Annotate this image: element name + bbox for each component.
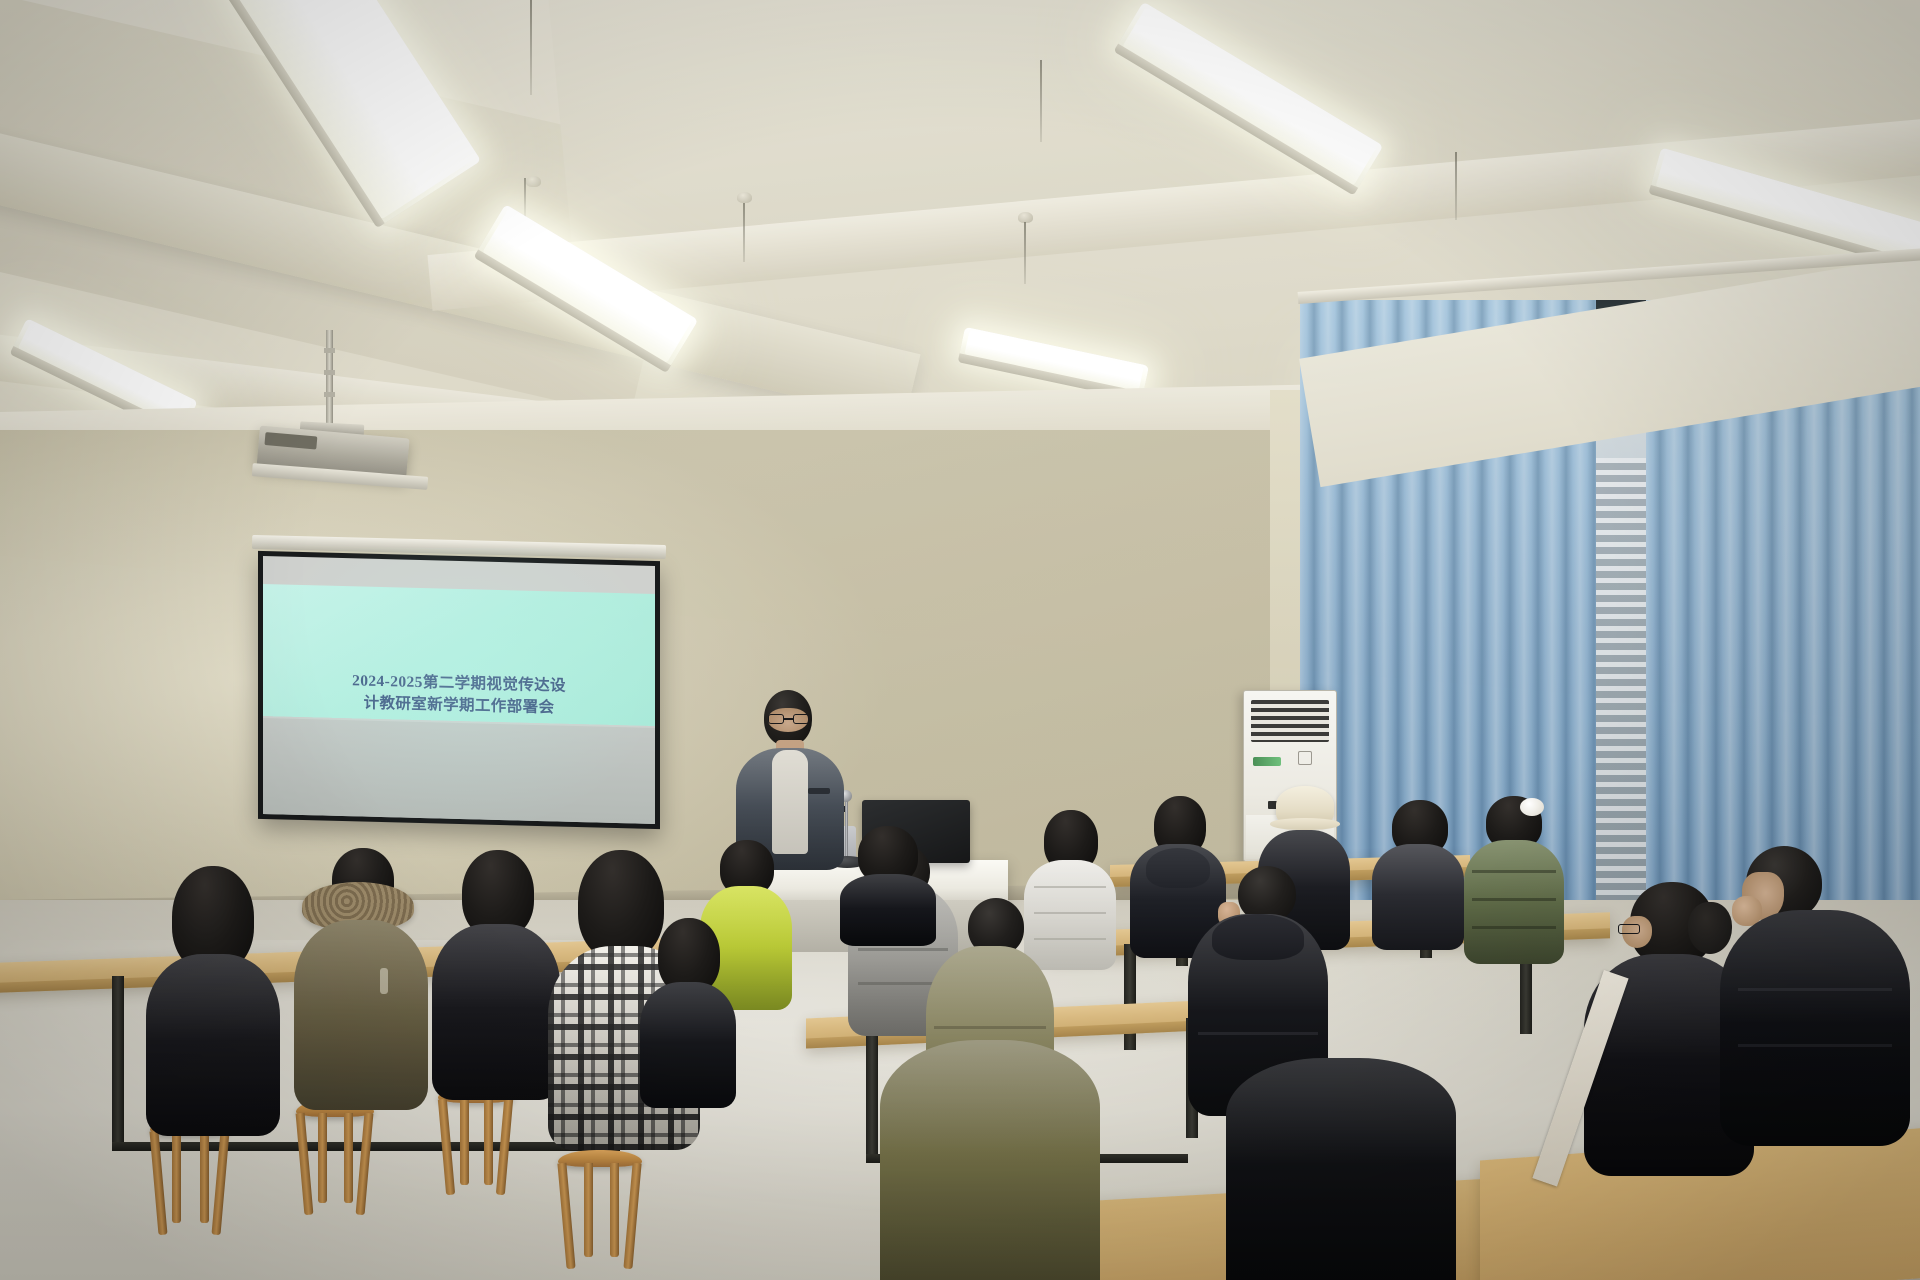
hair-scrunchie [1520,798,1544,816]
table-leg [112,976,124,1148]
student-far-left-back [640,918,736,1108]
wooden-stool[interactable] [438,1086,514,1198]
classroom-photo-scene: 2024-2025第二学期视觉传达设 计教研室新学期工作部署会 [0,0,1920,1280]
student-foreground-silhouette-2 [1226,1058,1456,1280]
light-wire [1024,222,1026,284]
light-wire [1040,60,1042,142]
student-olive-green-puffer [1462,796,1566,964]
light-wire [743,200,745,262]
glasses-icon [1618,924,1640,934]
student-olive-fur-hood-parka [292,848,430,1110]
light-wire [530,0,532,95]
parka-toggle [380,968,388,994]
wooden-stool[interactable] [558,1150,642,1272]
jacket-hood [1212,914,1304,960]
student-dark-jacket-row3 [1372,800,1464,950]
wooden-stool[interactable] [150,1118,230,1238]
presenter-sweater [772,750,808,854]
wooden-stool[interactable] [296,1100,374,1218]
projection-screen: 2024-2025第二学期视觉传达设 计教研室新学期工作部署会 [258,551,660,829]
glasses-icon [768,714,809,724]
jacket-pocket [808,788,830,794]
student-man-hand-on-chin [1720,846,1910,1146]
ceiling-canopy [1018,212,1033,223]
slide-content: 2024-2025第二学期视觉传达设 计教研室新学期工作部署会 [263,584,655,726]
light-wire [1455,152,1457,220]
student-black-coat-long-hair [146,866,280,1136]
hat-brim [1270,818,1340,830]
ac-brand-logo [1298,751,1312,765]
ac-display-panel [1253,757,1281,766]
ceiling-canopy [737,192,752,203]
student-black-hooded-coat [432,850,560,1100]
ceiling-canopy [526,176,541,187]
table-leg [1124,944,1136,1050]
student-foreground-silhouette [880,1040,1100,1280]
table-leg [866,1034,878,1160]
slide-title-line-2: 计教研室新学期工作部署会 [364,693,555,720]
student-black-coat-center [840,826,936,946]
ac-vent-slats [1251,700,1329,742]
screen-lower-band [263,718,655,824]
